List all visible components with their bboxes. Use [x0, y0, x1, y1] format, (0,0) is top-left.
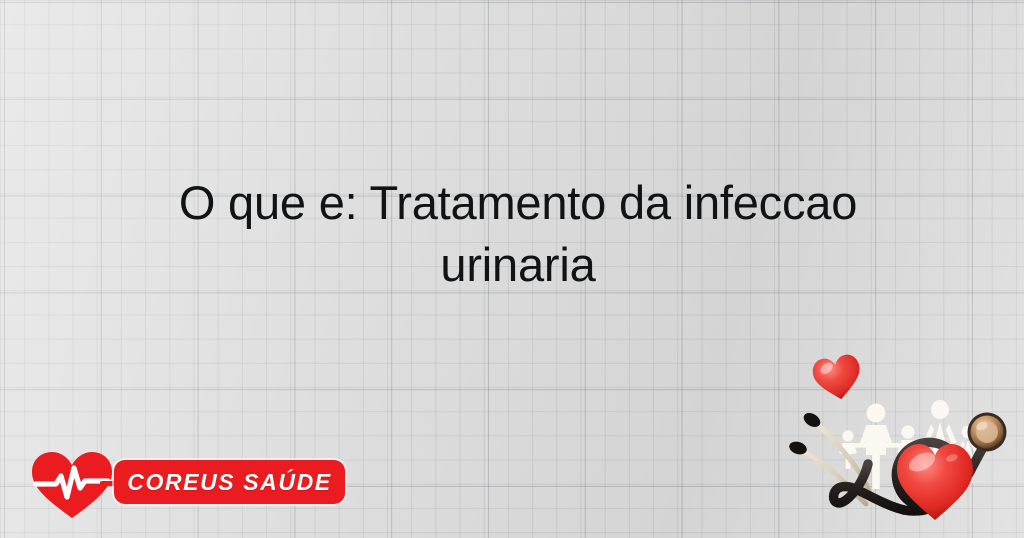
slide-canvas: O que e: Tratamento da infeccao urinaria…: [0, 0, 1024, 538]
stethoscope-chestpiece-icon: [968, 413, 1007, 452]
brand-name-badge[interactable]: COREUS SAÚDE: [114, 460, 345, 504]
small-heart-icon: [811, 353, 865, 404]
stethoscope-eartips-icon: [788, 410, 823, 456]
page-title: O que e: Tratamento da infeccao urinaria: [58, 172, 978, 296]
health-care-illustration: [772, 344, 1016, 538]
brand-name-label: COREUS SAÚDE: [127, 469, 332, 496]
brand-logo[interactable]: COREUS SAÚDE: [30, 448, 350, 520]
